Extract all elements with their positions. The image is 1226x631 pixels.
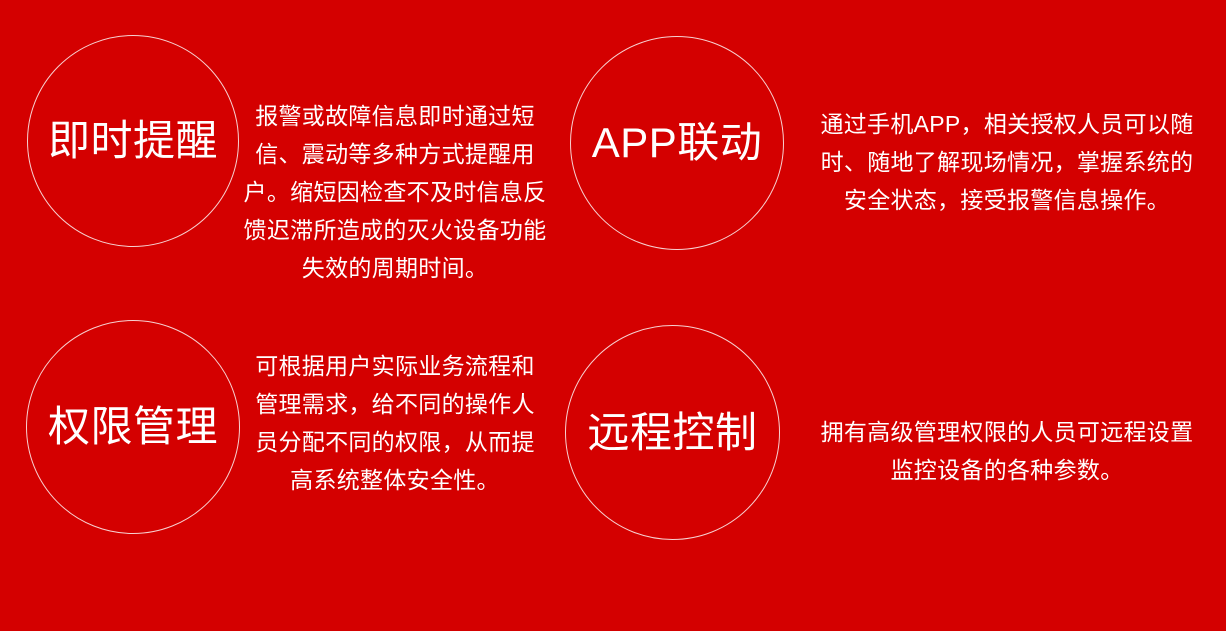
feature-circle-remote-control: 远程控制	[565, 325, 780, 540]
feature-circle-instant-alert: 即时提醒	[27, 35, 239, 247]
feature-body-permission-management: 可根据用户实际业务流程和管理需求，给不同的操作人员分配不同的权限，从而提高系统整…	[248, 347, 542, 499]
feature-title-instant-alert: 即时提醒	[48, 120, 218, 162]
feature-board: 即时提醒 报警或故障信息即时通过短信、震动等多种方式提醒用户。缩短因检查不及时信…	[0, 0, 1226, 631]
feature-body-remote-control: 拥有高级管理权限的人员可远程设置监控设备的各种参数。	[809, 413, 1205, 489]
feature-circle-permission-management: 权限管理	[26, 320, 240, 534]
feature-body-app-linkage: 通过手机APP，相关授权人员可以随时、随地了解现场情况，掌握系统的安全状态，接受…	[809, 105, 1205, 219]
feature-circle-app-linkage: APP联动	[570, 36, 784, 250]
feature-title-app-linkage: APP联动	[592, 122, 763, 164]
feature-title-permission-management: 权限管理	[48, 406, 218, 448]
feature-body-instant-alert: 报警或故障信息即时通过短信、震动等多种方式提醒用户。缩短因检查不及时信息反馈迟滞…	[243, 97, 547, 287]
feature-title-remote-control: 远程控制	[587, 412, 757, 454]
